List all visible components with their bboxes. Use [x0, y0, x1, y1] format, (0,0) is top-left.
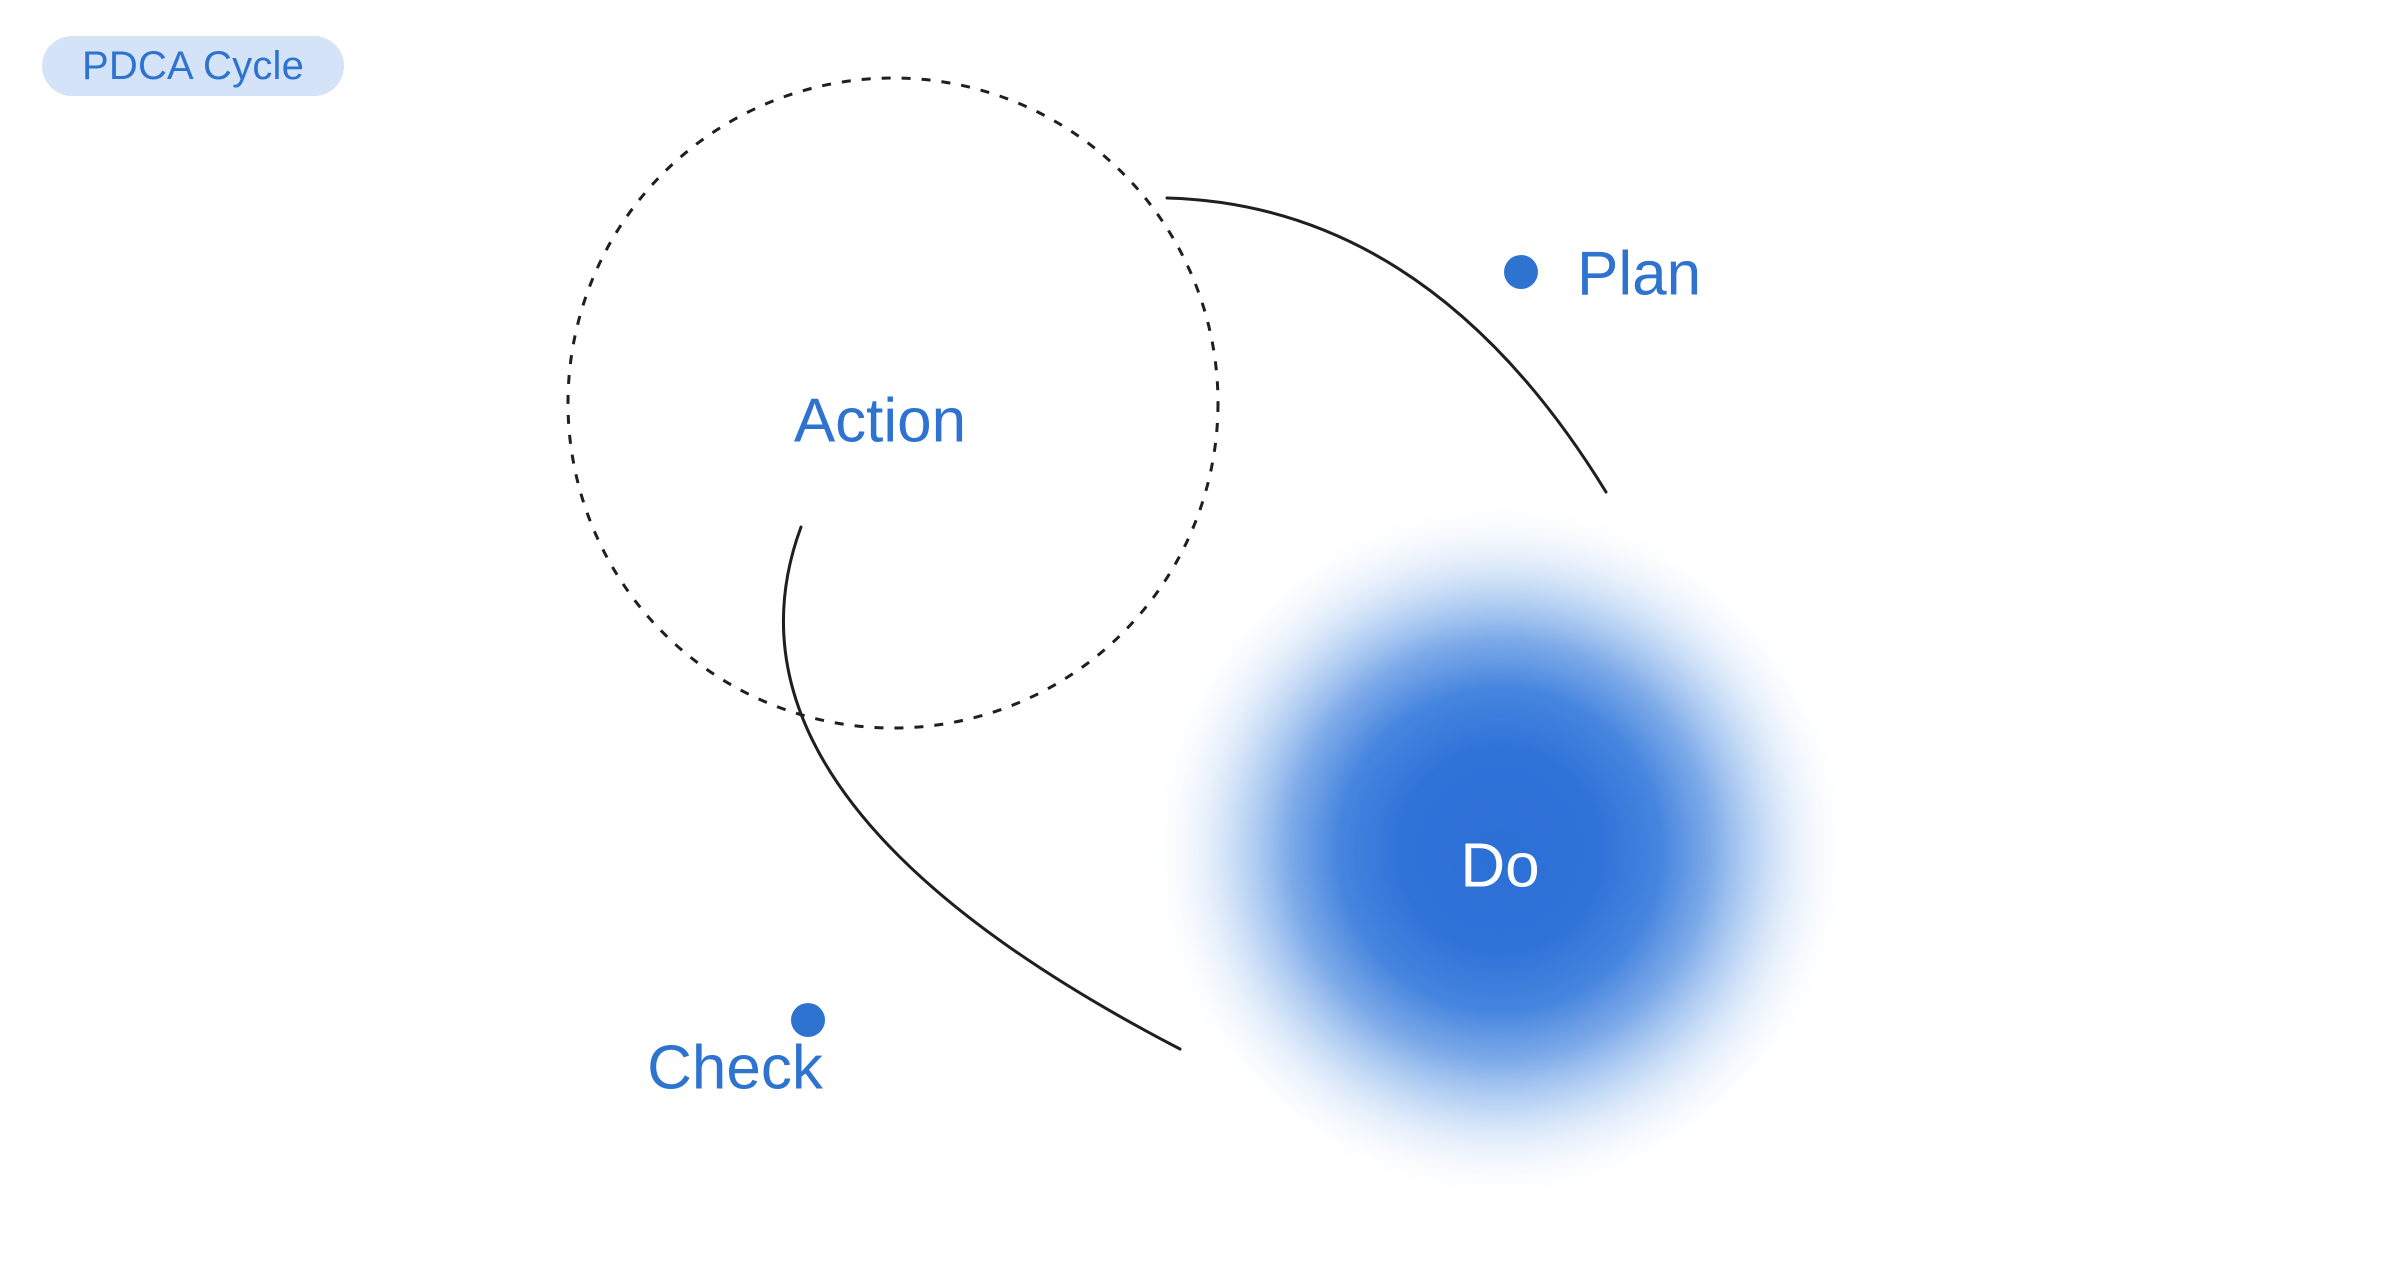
- stage-label-check: Check: [647, 1033, 824, 1102]
- plan-marker-dot[interactable]: [1504, 255, 1538, 289]
- diagram-canvas: PDCA Cycle: [0, 0, 2400, 1261]
- stage-label-do: Do: [1460, 831, 1539, 900]
- stage-label-plan: Plan: [1577, 239, 1701, 308]
- check-marker-dot[interactable]: [791, 1003, 825, 1037]
- stage-label-action: Action: [794, 386, 966, 455]
- check-connector-arc: [783, 527, 1180, 1049]
- plan-connector-arc: [1167, 198, 1606, 492]
- pdca-cycle-diagram: Plan Do Check Action: [0, 0, 2400, 1261]
